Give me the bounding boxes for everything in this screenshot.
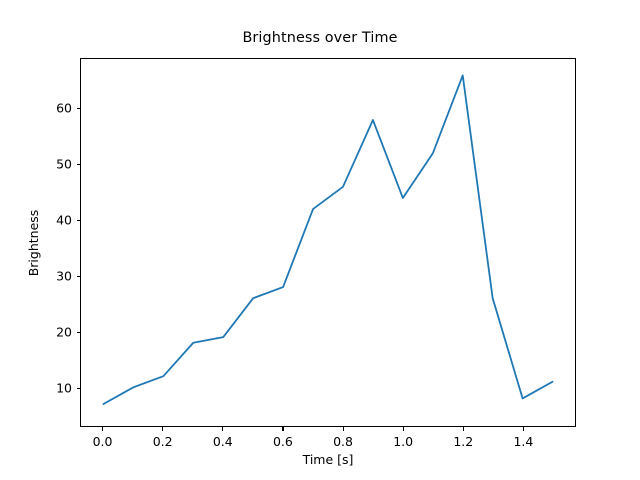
y-tick-mark [77, 332, 81, 333]
line-series-svg [81, 59, 575, 426]
x-tick-mark [102, 427, 103, 431]
x-tick-label: 0.8 [333, 434, 353, 449]
x-tick-mark [523, 427, 524, 431]
x-tick-mark [282, 427, 283, 431]
y-tick-label: 60 [34, 101, 72, 116]
y-tick-mark [77, 220, 81, 221]
x-tick-label: 0.6 [273, 434, 293, 449]
x-tick-label: 0.4 [213, 434, 233, 449]
x-tick-label: 0.2 [153, 434, 173, 449]
brightness-line [103, 75, 552, 404]
y-axis-label: Brightness [26, 210, 41, 277]
x-tick-label: 0.0 [93, 434, 113, 449]
x-tick-mark [403, 427, 404, 431]
y-tick-mark [77, 108, 81, 109]
x-tick-label: 1.0 [393, 434, 413, 449]
y-tick-mark [77, 164, 81, 165]
y-tick-label: 10 [34, 381, 72, 396]
chart-title: Brightness over Time [0, 30, 640, 46]
plot-area [80, 58, 576, 427]
y-tick-label: 20 [34, 325, 72, 340]
x-tick-label: 1.2 [453, 434, 473, 449]
y-tick-label: 50 [34, 157, 72, 172]
x-tick-mark [343, 427, 344, 431]
chart-figure: Brightness over Time 0.00.20.40.60.81.01… [0, 0, 640, 480]
x-tick-mark [463, 427, 464, 431]
x-tick-mark [162, 427, 163, 431]
x-tick-mark [222, 427, 223, 431]
y-tick-mark [77, 388, 81, 389]
x-axis-label: Time [s] [80, 452, 576, 467]
y-tick-mark [77, 276, 81, 277]
x-tick-label: 1.4 [513, 434, 533, 449]
